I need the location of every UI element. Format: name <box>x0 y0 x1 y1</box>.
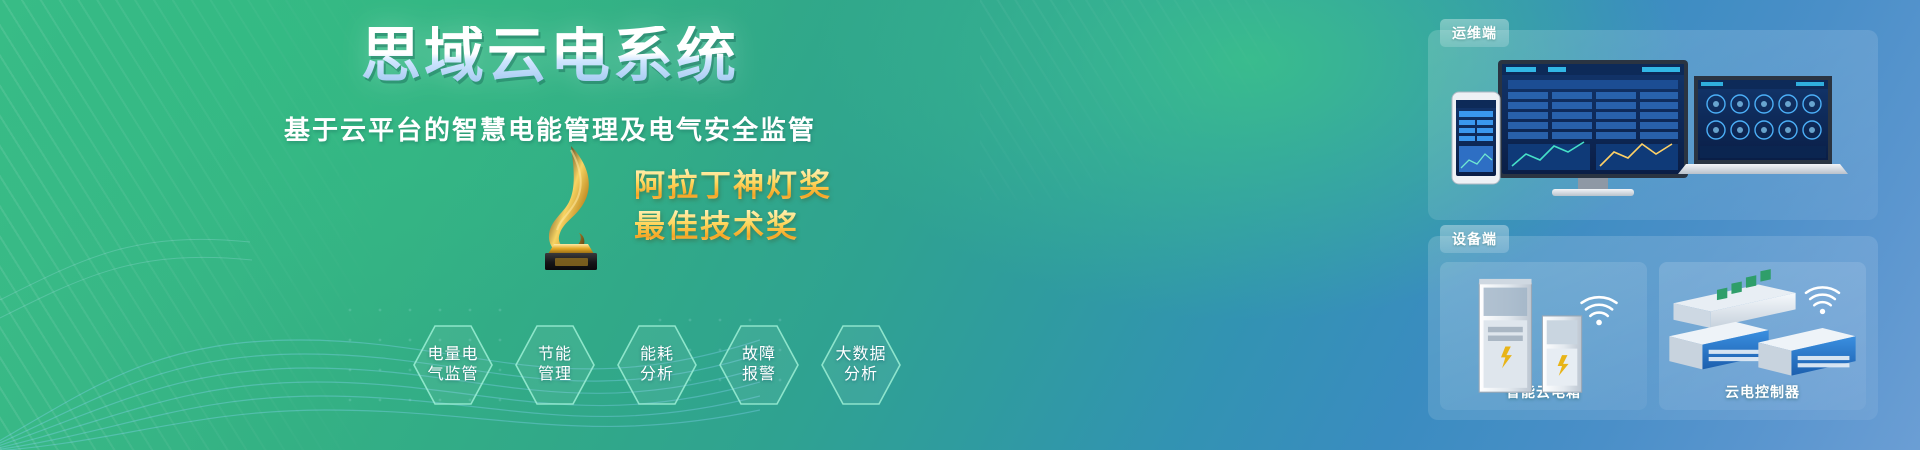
device-terminal-tag: 设备端 <box>1440 225 1509 253</box>
feature-badge-label: 能耗分析 <box>640 345 674 386</box>
feature-badge-row: 电量电气监管 节能管理 能耗分析 故障报警 <box>410 322 904 408</box>
wifi-signal-icon <box>1582 297 1617 316</box>
device-card-list: 智能云电箱 <box>1440 262 1866 410</box>
feature-badge[interactable]: 故障报警 <box>716 322 802 408</box>
feature-badge[interactable]: 节能管理 <box>512 322 598 408</box>
award-text: 阿拉丁神灯奖 最佳技术奖 <box>634 166 832 248</box>
trophy-icon <box>516 140 626 270</box>
banner-left-content: 思域云电系统 基于云平台的智慧电能管理及电气安全监管 <box>0 0 1040 450</box>
feature-badge[interactable]: 大数据分析 <box>818 322 904 408</box>
wifi-signal-icon <box>1806 287 1839 305</box>
ops-terminal-panel: 运维端 <box>1428 30 1878 220</box>
feature-badge[interactable]: 能耗分析 <box>614 322 700 408</box>
award-category: 最佳技术奖 <box>634 207 832 248</box>
laptop-icon <box>1678 76 1848 174</box>
device-card[interactable]: 智能云电箱 <box>1440 262 1647 410</box>
feature-badge-label: 故障报警 <box>742 345 776 386</box>
desktop-monitor-icon <box>1498 60 1688 196</box>
feature-badge-label: 电量电气监管 <box>427 345 478 386</box>
electric-cabinet-icon <box>1440 268 1647 399</box>
device-terminal-panel: 设备端 <box>1428 236 1878 420</box>
page-title: 思域云电系统 <box>0 26 1040 86</box>
controller-module-icon <box>1659 268 1866 392</box>
feature-badge[interactable]: 电量电气监管 <box>410 322 496 408</box>
feature-badge-label: 大数据分析 <box>835 345 886 386</box>
smartphone-icon <box>1452 92 1500 184</box>
product-showcase-panels: 运维端 <box>1428 30 1878 420</box>
promo-banner: 思域云电系统 基于云平台的智慧电能管理及电气安全监管 <box>0 0 1920 450</box>
device-card[interactable]: 云电控制器 <box>1659 262 1866 410</box>
feature-badge-label: 节能管理 <box>538 345 572 386</box>
ops-devices-illustration <box>1428 34 1878 224</box>
award-name: 阿拉丁神灯奖 <box>634 166 832 207</box>
award-block: 阿拉丁神灯奖 最佳技术奖 <box>516 158 916 268</box>
